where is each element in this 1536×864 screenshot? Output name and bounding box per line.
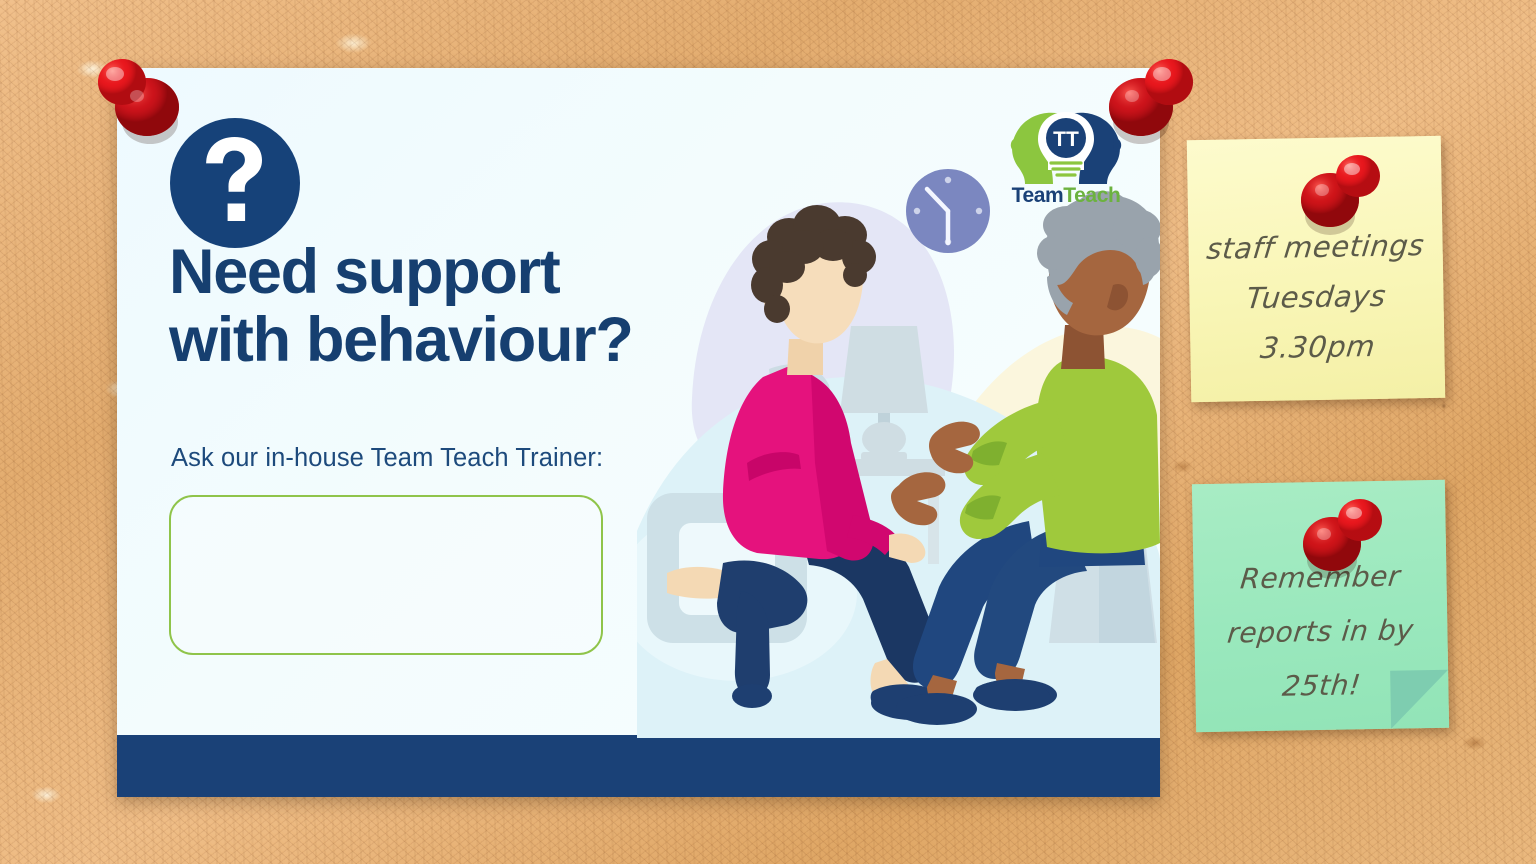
note-yellow-line-3: 3.30pm: [1257, 322, 1377, 374]
green-top: [1036, 357, 1160, 554]
note-green-line-3: 25th!: [1280, 658, 1364, 713]
conversation-illustration: [637, 163, 1160, 738]
logo-word-team: Team: [1012, 184, 1064, 207]
cork-noticeboard: Need support with behaviour? Ask our in-…: [0, 0, 1536, 864]
poster-footer-bar: [117, 735, 1160, 797]
shoe-left-back: [732, 684, 772, 708]
note-green-line-1: Remember: [1237, 550, 1402, 607]
logo-wordmark: TeamTeach: [1005, 184, 1127, 208]
question-mark-icon: [170, 118, 300, 248]
logo-monogram: TT: [1053, 128, 1079, 151]
need-support-poster[interactable]: Need support with behaviour? Ask our in-…: [117, 68, 1160, 797]
note-green-line-2: reports in by: [1225, 603, 1417, 660]
logo-word-teach: Teach: [1063, 184, 1120, 207]
sticky-note-staff-meetings[interactable]: staff meetings Tuesdays 3.30pm: [1187, 136, 1446, 402]
note-yellow-line-1: staff meetings: [1204, 221, 1427, 275]
trainer-name-input[interactable]: [169, 495, 603, 655]
note-yellow-line-2: Tuesdays: [1244, 272, 1389, 324]
poster-subline: Ask our in-house Team Teach Trainer:: [171, 444, 603, 473]
note-folded-corner: [1390, 670, 1449, 729]
sticky-note-reports[interactable]: Remember reports in by 25th!: [1192, 480, 1449, 732]
wall-clock-icon: [906, 169, 990, 253]
team-teach-logo: TT TeamTeach: [1005, 108, 1127, 208]
headline-line-1: Need support: [169, 237, 559, 307]
